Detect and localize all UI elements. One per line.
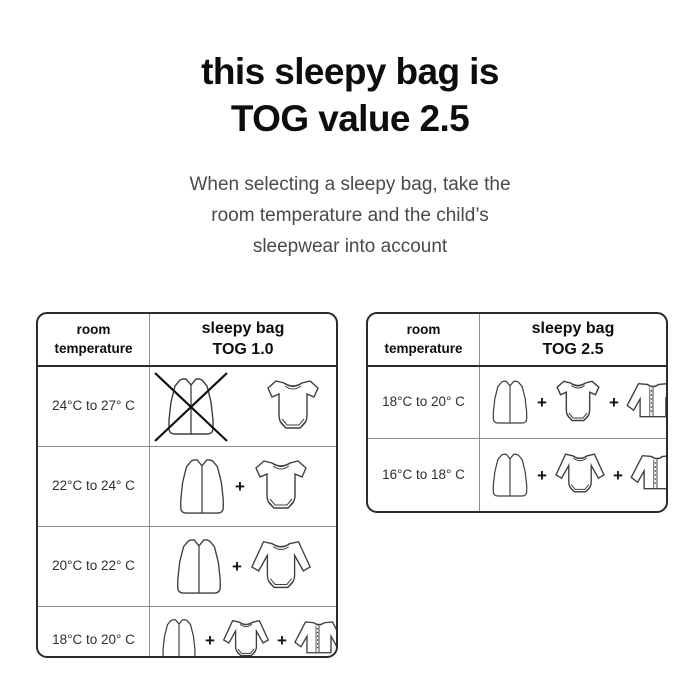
column-header-room-temperature-line-2: temperature: [384, 340, 462, 358]
cell-sleepwear-items: + +: [150, 607, 338, 658]
plus-symbol: +: [612, 467, 624, 484]
column-header-sleepy-bag-line-2: TOG 2.5: [542, 340, 603, 361]
cell-sleepwear-items: [150, 367, 336, 446]
page-title: this sleepy bag is TOG value 2.5: [0, 48, 700, 143]
cell-room-temperature: 20°C to 22° C: [38, 527, 150, 606]
cell-room-temperature: 16°C to 18° C: [368, 439, 480, 511]
page-subtitle-line-1: When selecting a sleepy bag, take the: [0, 170, 700, 201]
cell-room-temperature: 22°C to 24° C: [38, 447, 150, 526]
page-title-line-1: this sleepy bag is: [0, 48, 700, 95]
plus-symbol: +: [536, 467, 548, 484]
plus-symbol: +: [536, 394, 548, 411]
column-header-room-temperature: room temperature: [368, 314, 480, 365]
cell-sleepwear-items: +: [150, 447, 336, 526]
cardigan-icon: [624, 378, 668, 428]
column-header-room-temperature-line-2: temperature: [54, 340, 132, 358]
table-row: 20°C to 22° C +: [38, 527, 336, 607]
cardigan-icon: [292, 616, 338, 658]
column-header-sleepy-bag-line-1: sleepy bag: [532, 319, 615, 340]
table-row: 18°C to 20° C + +: [38, 607, 336, 658]
column-header-sleepy-bag-line-2: TOG 1.0: [212, 340, 273, 361]
plus-symbol: +: [204, 632, 216, 649]
short-sleeve-bodysuit-icon: [262, 377, 324, 437]
long-sleeve-bodysuit-icon: [220, 616, 272, 658]
page-subtitle-line-2: room temperature and the child’s: [0, 201, 700, 232]
table-header-row: room temperature sleepy bag TOG 2.5: [368, 314, 666, 367]
cardigan-icon: [628, 450, 668, 500]
column-header-room-temperature-line-1: room: [384, 321, 462, 339]
sleepy-bag-icon: [488, 449, 532, 502]
column-header-sleepy-bag-tog: sleepy bag TOG 2.5: [480, 314, 666, 365]
plus-symbol: +: [276, 632, 288, 649]
page-header: this sleepy bag is TOG value 2.5: [0, 48, 700, 143]
table-row: 22°C to 24° C +: [38, 447, 336, 527]
cell-sleepwear-items: + +: [480, 367, 668, 438]
sleepy-bag-icon: [488, 376, 532, 429]
plus-symbol: +: [234, 478, 246, 495]
table-row: 24°C to 27° C: [38, 367, 336, 447]
short-sleeve-bodysuit-icon: [250, 457, 312, 517]
sleepy-bag-icon: [174, 456, 230, 518]
sleepy-bag-icon: [171, 536, 227, 598]
cell-room-temperature: 24°C to 27° C: [38, 367, 150, 446]
page-subtitle: When selecting a sleepy bag, take the ro…: [0, 170, 700, 262]
tog-2-5-table: room temperature sleepy bag TOG 2.5 18°C…: [366, 312, 668, 513]
sleepy-bag-icon: [162, 376, 220, 438]
tog-1-0-table: room temperature sleepy bag TOG 1.0 24°C…: [36, 312, 338, 658]
long-sleeve-bodysuit-icon: [247, 537, 315, 597]
cell-sleepwear-items: + +: [480, 439, 668, 511]
short-sleeve-bodysuit-icon: [552, 378, 604, 428]
cell-room-temperature: 18°C to 20° C: [368, 367, 480, 438]
sleepy-bag-not-recommended: [162, 376, 220, 438]
page-subtitle-line-3: sleepwear into account: [0, 232, 700, 263]
plus-symbol: +: [231, 558, 243, 575]
column-header-room-temperature: room temperature: [38, 314, 150, 365]
cell-sleepwear-items: +: [150, 527, 336, 606]
plus-symbol: +: [608, 394, 620, 411]
long-sleeve-bodysuit-icon: [552, 450, 608, 500]
sleepy-bag-icon: [158, 615, 200, 658]
column-header-room-temperature-line-1: room: [54, 321, 132, 339]
table-row: 18°C to 20° C + +: [368, 367, 666, 439]
column-header-sleepy-bag-line-1: sleepy bag: [202, 319, 285, 340]
column-header-sleepy-bag-tog: sleepy bag TOG 1.0: [150, 314, 336, 365]
page-title-line-2: TOG value 2.5: [0, 95, 700, 142]
cell-room-temperature: 18°C to 20° C: [38, 607, 150, 658]
table-header-row: room temperature sleepy bag TOG 1.0: [38, 314, 336, 367]
table-row: 16°C to 18° C + +: [368, 439, 666, 511]
